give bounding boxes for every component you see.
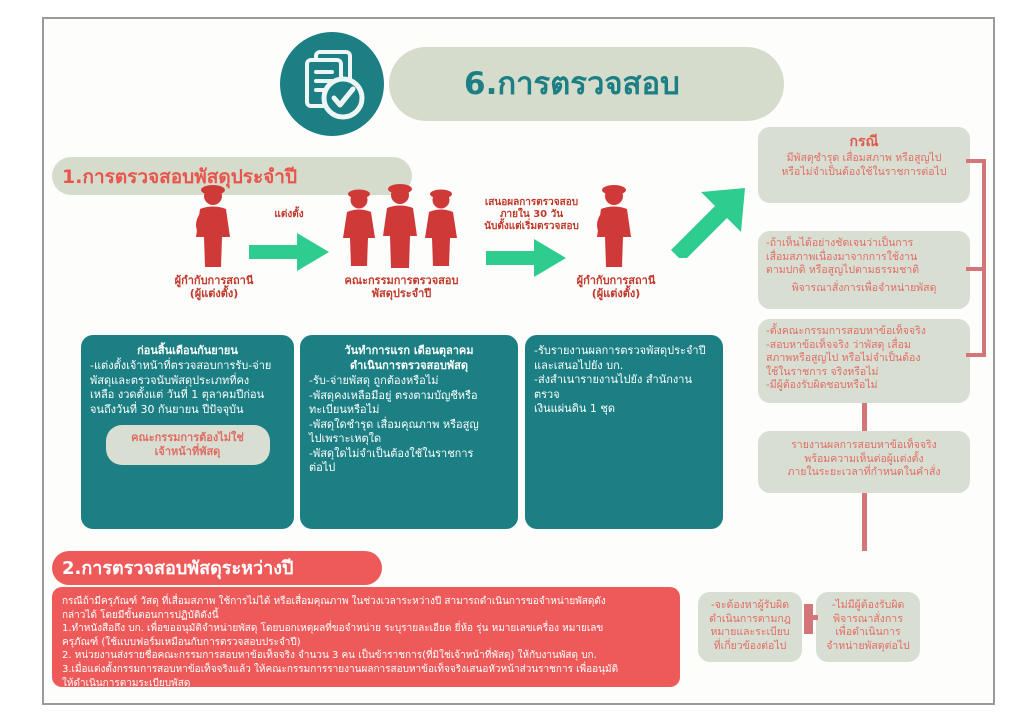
- teal-box-1-body: -แต่งตั้งเจ้าหน้าที่ตรวจสอบการรับ-จ่าย พ…: [90, 359, 285, 417]
- case-box-heading: กรณี: [766, 133, 962, 151]
- flow-node-3-label: ผู้กำกับการสถานี (ผู้แต่งตั้ง): [536, 274, 696, 301]
- teal-box-3: -รับรายงานผลการตรวจพัสดุประจำปี และเสนอไ…: [525, 335, 723, 529]
- connector-box3-to-box4: [862, 403, 867, 431]
- right-box-5-body: -จะต้องหาผู้รับผิด ดำเนินการตามกฎ หมายแล…: [703, 599, 797, 653]
- teal-box-1-chip: คณะกรรมการต้องไม่ใช่ เจ้าหน้าที่พัสดุ: [106, 425, 270, 465]
- flow-node-1-label: ผู้กำกับการสถานี (ผู้แต่งตั้ง): [134, 274, 294, 301]
- right-box-4-body: รายงานผลการสอบหาข้อเท็จจริง พร้อมความเห็…: [766, 439, 962, 480]
- connector-bracket-mid: [966, 267, 986, 271]
- section2-body: กรณีถ้ามีครุภัณฑ์ วัสดุ ที่เสื่อมสภาพ ใช…: [62, 595, 662, 690]
- person-icon-station-commander-1: [189, 182, 237, 268]
- right-box-5: -จะต้องหาผู้รับผิด ดำเนินการตามกฎ หมายแล…: [698, 592, 802, 662]
- connector-bracket-bottom: [966, 353, 986, 357]
- person-icon-committee-group: [337, 182, 463, 268]
- case-box-body: มีพัสดุชำรุด เสื่อมสภาพ หรือสูญไป หรือไม…: [766, 152, 962, 179]
- slide-frame: 6.การตรวจสอบ 1.การตรวจสอบพัสดุประจำปี ผู…: [42, 17, 995, 705]
- right-box-2-footer: พิจารณาสั่งการเพื่อจำหน่ายพัสดุ: [766, 282, 962, 296]
- right-box-2: -ถ้าเห็นได้อย่างชัดเจนว่าเป็นการ เสื่อมส…: [758, 231, 970, 309]
- slide-canvas: 6.การตรวจสอบ 1.การตรวจสอบพัสดุประจำปี ผู…: [44, 19, 993, 703]
- right-box-3-body: -ตั้งคณะกรรมการสอบหาข้อเท็จจริง -สอบหาข้…: [766, 325, 962, 393]
- teal-box-2-body: -รับ-จ่ายพัสดุ ถูกต้องหรือไม่ -พัสดุคงเห…: [309, 374, 509, 476]
- teal-box-3-body: -รับรายงานผลการตรวจพัสดุประจำปี และเสนอไ…: [534, 344, 714, 417]
- arrow-2-label: เสนอผลการตรวจสอบ ภายใน 30 วัน นับตั้งแต่…: [459, 197, 604, 234]
- section1-title: 1.การตรวจสอบพัสดุประจำปี: [62, 163, 297, 191]
- teal-box-2-heading: วันทำการแรก เดือนตุลาคม: [309, 344, 509, 358]
- document-check-icon: [280, 32, 384, 136]
- teal-box-2: วันทำการแรก เดือนตุลาคม ดำเนินการตรวจสอบ…: [300, 335, 518, 529]
- green-arrow-1-icon: [247, 231, 331, 277]
- section2-title: 2.การตรวจสอบพัสดุระหว่างปี: [62, 556, 293, 582]
- right-box-3: -ตั้งคณะกรรมการสอบหาข้อเท็จจริง -สอบหาข้…: [758, 319, 970, 403]
- arrow-1-label: แต่งตั้ง: [244, 209, 334, 221]
- case-box: กรณี มีพัสดุชำรุด เสื่อมสภาพ หรือสูญไป ห…: [758, 127, 970, 203]
- connector-bracket-top: [966, 159, 986, 163]
- teal-box-1: ก่อนสิ้นเดือนกันยายน -แต่งตั้งเจ้าหน้าที…: [81, 335, 294, 529]
- person-icon-station-commander-2: [590, 182, 638, 268]
- flow-node-2-label: คณะกรรมการตรวจสอบ พัสดุประจำปี: [319, 274, 484, 301]
- teal-box-2-subheading: ดำเนินการตรวจสอบพัสดุ: [309, 359, 509, 373]
- teal-box-1-heading: ก่อนสิ้นเดือนกันยายน: [90, 344, 285, 358]
- page-title: 6.การตรวจสอบ: [464, 64, 764, 104]
- green-arrow-diagonal-icon: [659, 174, 755, 262]
- section2-panel: กรณีถ้ามีครุภัณฑ์ วัสดุ ที่เสื่อมสภาพ ใช…: [52, 587, 680, 687]
- connector-box4-down: [862, 493, 867, 551]
- right-box-2-body: -ถ้าเห็นได้อย่างชัดเจนว่าเป็นการ เสื่อมส…: [766, 237, 962, 278]
- connector-bracket-vertical: [982, 159, 986, 357]
- connector-to-box6: [804, 615, 818, 620]
- right-box-4: รายงานผลการสอบหาข้อเท็จจริง พร้อมความเห็…: [758, 431, 970, 493]
- right-box-6-body: -ไม่มีผู้ต้องรับผิด พิจารณาสั่งการ เพื่อ…: [821, 599, 915, 653]
- right-box-6: -ไม่มีผู้ต้องรับผิด พิจารณาสั่งการ เพื่อ…: [816, 592, 920, 662]
